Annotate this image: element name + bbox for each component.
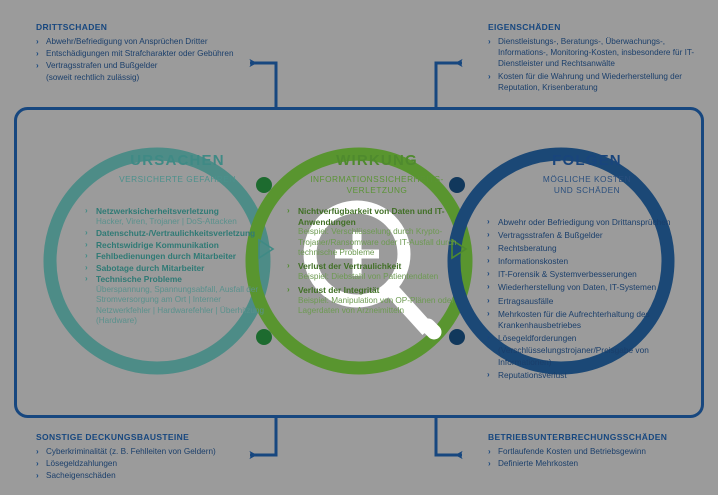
column-subtitle-line1: INFORMATIONSSICHERHEITS- <box>310 174 444 184</box>
note-sonstige-deckungsbausteine: SONSTIGE DECKUNGSBAUSTEINE ›Cyberkrimina… <box>36 432 306 483</box>
list-item-lead: Lösegeldforderungen (Verschlüsselungstro… <box>498 333 687 368</box>
chevron-icon: › <box>36 470 39 481</box>
list-item: ›Verlust der VertraulichkeitBeispiel: Di… <box>287 261 467 282</box>
column-header: WIRKUNG INFORMATIONSSICHERHEITS- VERLETZ… <box>287 152 467 196</box>
list-item-lead: Wiederherstellung von Daten, IT-Systemen <box>498 282 687 294</box>
list-item: ›Lösegeldzahlungen <box>36 458 306 469</box>
list-item-sub: Überspannung, Spannungsabfall, Ausfall d… <box>96 285 270 327</box>
column-folgen: FOLGEN MÖGLICHE KOSTEN UND SCHÄDEN ›Abwe… <box>487 152 687 383</box>
chevron-icon: › <box>487 370 490 379</box>
list-item: ›Rechtsberatung <box>487 243 687 255</box>
list-item: ›Informationskosten <box>487 256 687 268</box>
list-item: ›Sabotage durch Mitarbeiter <box>85 263 270 274</box>
list-item-text: Fortlaufende Kosten und Betriebsgewinn <box>498 447 646 456</box>
column-subtitle-line2: VERLETZUNG <box>347 185 408 195</box>
list-item: ›Lösegeldforderungen (Verschlüsselungstr… <box>487 333 687 368</box>
column-wirkung: WIRKUNG INFORMATIONSSICHERHEITS- VERLETZ… <box>287 152 467 320</box>
list-item-lead: Ertragsausfälle <box>498 296 687 308</box>
list-item-lead: Fehlbedienungen durch Mitarbeiter <box>96 251 270 262</box>
chevron-icon: › <box>488 71 491 82</box>
list-item-lead: Abwehr oder Befriedigung von Drittansprü… <box>498 217 687 229</box>
column-subtitle: VERSICHERTE GEFAHREN <box>85 174 270 185</box>
list-item: ›Verlust der IntegritätBeispiel: Manipul… <box>287 285 467 316</box>
chevron-icon: › <box>487 333 490 342</box>
list-item-lead: Datenschutz-/Vertraulichkeitsverletzung <box>96 228 270 239</box>
chevron-icon: › <box>85 251 88 260</box>
chevron-icon: › <box>36 458 39 469</box>
list-item: ›Fortlaufende Kosten und Betriebsgewinn <box>488 446 716 457</box>
list-item: ›Rechtswidrige Kommunikation <box>85 240 270 251</box>
list-item: ›Entschädigungen mit Strafcharakter oder… <box>36 48 306 59</box>
list-item: ›Fehlbedienungen durch Mitarbeiter <box>85 251 270 262</box>
list-item: ›Datenschutz-/Vertraulichkeitsverletzung <box>85 228 270 239</box>
list-item: ›Vertragsstrafen & Bußgelder <box>487 230 687 242</box>
note-title: SONSTIGE DECKUNGSBAUSTEINE <box>36 432 306 442</box>
list-item-lead: Mehrkosten für die Aufrechterhaltung des… <box>498 309 687 332</box>
note-betriebsunterbrechungsschaeden: BETRIEBSUNTERBRECHUNGSSCHÄDEN ›Fortlaufe… <box>488 432 716 470</box>
chevron-icon: › <box>287 261 290 270</box>
list-item-lead: Vertragsstrafen & Bußgelder <box>498 230 687 242</box>
chevron-icon: › <box>36 48 39 59</box>
list-item-lead: Verlust der Integrität <box>298 285 467 296</box>
chevron-icon: › <box>488 36 491 47</box>
chevron-icon: › <box>487 243 490 252</box>
junction-node-bl <box>256 329 272 345</box>
list-item-lead: Nichtverfügbarkeit von Daten und IT-Anwe… <box>298 206 467 227</box>
list-item: ›Kosten für die Wahrung und Wiederherste… <box>488 71 713 93</box>
list-item: ›Reputationsverlust <box>487 370 687 382</box>
list-item: ›NetzwerksicherheitsverletzungHacker, Vi… <box>85 206 270 227</box>
list-item-text: Cyberkriminalität (z. B. Fehlleiten von … <box>46 447 216 456</box>
list-item: ›Wiederherstellung von Daten, IT-Systeme… <box>487 282 687 294</box>
list-item-text: Definierte Mehrkosten <box>498 459 578 468</box>
column-subtitle: INFORMATIONSSICHERHEITS- VERLETZUNG <box>287 174 467 196</box>
note-list: ›Cyberkriminalität (z. B. Fehlleiten von… <box>36 446 306 482</box>
list-item-lead: Netzwerksicherheitsverletzung <box>96 206 270 217</box>
list-item-lead: Technische Probleme <box>96 274 270 285</box>
list-item-text: Kosten für die Wahrung und Wiederherstel… <box>498 72 682 92</box>
chevron-icon: › <box>36 446 39 457</box>
note-list: ›Abwehr/Befriedigung von Ansprüchen Drit… <box>36 36 306 83</box>
list-item-sub: Beispiel: Diebstahl von Patientendaten <box>298 272 467 282</box>
column-title: WIRKUNG <box>287 152 467 169</box>
note-drittschaden: DRITTSCHADEN ›Abwehr/Befriedigung von An… <box>36 22 306 84</box>
chevron-icon: › <box>85 240 88 249</box>
list-item-text: Dienstleistungs-, Beratungs-, Überwachun… <box>498 37 694 68</box>
note-title: EIGENSCHÄDEN <box>488 22 713 32</box>
chevron-icon: › <box>85 206 88 215</box>
chevron-icon: › <box>487 282 490 291</box>
note-title: DRITTSCHADEN <box>36 22 306 32</box>
list-item-text: Sacheigenschäden <box>46 471 116 480</box>
list-item: ›Sacheigenschäden <box>36 470 306 481</box>
list-item-lead: Sabotage durch Mitarbeiter <box>96 263 270 274</box>
list-item-lead: IT-Forensik & Systemverbesserungen <box>498 269 687 281</box>
chevron-icon: › <box>36 36 39 47</box>
column-list: ›Abwehr oder Befriedigung von Drittanspr… <box>487 217 687 381</box>
chevron-icon: › <box>287 285 290 294</box>
list-item: ›Technische ProblemeÜberspannung, Spannu… <box>85 274 270 326</box>
column-subtitle-line2: UND SCHÄDEN <box>554 185 620 195</box>
list-item-sub: Beispiel: Manipulation von OP-Plänen ode… <box>298 296 467 317</box>
chevron-icon: › <box>487 217 490 226</box>
list-item: ›IT-Forensik & Systemverbesserungen <box>487 269 687 281</box>
note-list: ›Fortlaufende Kosten und Betriebsgewinn … <box>488 446 716 469</box>
chevron-icon: › <box>85 228 88 237</box>
column-header: URSACHEN VERSICHERTE GEFAHREN <box>85 152 270 185</box>
chevron-icon: › <box>85 274 88 283</box>
chevron-icon: › <box>487 230 490 239</box>
connector-arrow-top-right <box>436 63 462 109</box>
list-item-text: Vertragsstrafen und Bußgelder <box>46 61 158 70</box>
column-subtitle-line1: MÖGLICHE KOSTEN <box>543 174 631 184</box>
junction-node-br <box>449 329 465 345</box>
chevron-icon: › <box>488 446 491 457</box>
list-item-text: Lösegeldzahlungen <box>46 459 117 468</box>
list-item-sub: Beispiel: Verschlüsselung durch Krypto-T… <box>298 227 467 258</box>
column-title: FOLGEN <box>487 152 687 169</box>
chevron-icon: › <box>487 269 490 278</box>
chevron-icon: › <box>488 458 491 469</box>
connector-arrow-bottom-right <box>436 416 462 455</box>
list-item-subtext: (soweit rechtlich zulässig) <box>46 72 306 83</box>
column-ursachen: URSACHEN VERSICHERTE GEFAHREN ›Netzwerks… <box>85 152 270 328</box>
list-item-lead: Verlust der Vertraulichkeit <box>298 261 467 272</box>
list-item: ›Cyberkriminalität (z. B. Fehlleiten von… <box>36 446 306 457</box>
chevron-icon: › <box>487 309 490 318</box>
list-item: ›Dienstleistungs-, Beratungs-, Überwachu… <box>488 36 713 70</box>
list-item-sub: Hacker, Viren, Trojaner | DoS-Attacken <box>96 217 270 227</box>
note-title: BETRIEBSUNTERBRECHUNGSSCHÄDEN <box>488 432 716 442</box>
list-item: ›Nichtverfügbarkeit von Daten und IT-Anw… <box>287 206 467 258</box>
chevron-icon: › <box>36 60 39 71</box>
list-item: ›Definierte Mehrkosten <box>488 458 716 469</box>
chevron-icon: › <box>487 256 490 265</box>
list-item-lead: Rechtsberatung <box>498 243 687 255</box>
column-list: ›NetzwerksicherheitsverletzungHacker, Vi… <box>85 206 270 327</box>
list-item-lead: Reputationsverlust <box>498 370 687 382</box>
column-title: URSACHEN <box>85 152 270 169</box>
note-eigenschaeden: EIGENSCHÄDEN ›Dienstleistungs-, Beratung… <box>488 22 713 94</box>
infographic-canvas: DRITTSCHADEN ›Abwehr/Befriedigung von An… <box>0 0 718 495</box>
list-item: ›Abwehr/Befriedigung von Ansprüchen Drit… <box>36 36 306 47</box>
column-subtitle: MÖGLICHE KOSTEN UND SCHÄDEN <box>487 174 687 196</box>
list-item: ›Mehrkosten für die Aufrechterhaltung de… <box>487 309 687 332</box>
list-item-lead: Rechtswidrige Kommunikation <box>96 240 270 251</box>
list-item: ›Ertragsausfälle <box>487 296 687 308</box>
list-item: ›Vertragsstrafen und Bußgelder(soweit re… <box>36 60 306 82</box>
column-list: ›Nichtverfügbarkeit von Daten und IT-Anw… <box>287 206 467 317</box>
list-item-lead: Informationskosten <box>498 256 687 268</box>
column-header: FOLGEN MÖGLICHE KOSTEN UND SCHÄDEN <box>487 152 687 196</box>
chevron-icon: › <box>287 206 290 215</box>
chevron-icon: › <box>487 296 490 305</box>
chevron-icon: › <box>85 263 88 272</box>
list-item-text: Abwehr/Befriedigung von Ansprüchen Dritt… <box>46 37 208 46</box>
list-item: ›Abwehr oder Befriedigung von Drittanspr… <box>487 217 687 229</box>
list-item-text: Entschädigungen mit Strafcharakter oder … <box>46 49 234 58</box>
note-list: ›Dienstleistungs-, Beratungs-, Überwachu… <box>488 36 713 93</box>
